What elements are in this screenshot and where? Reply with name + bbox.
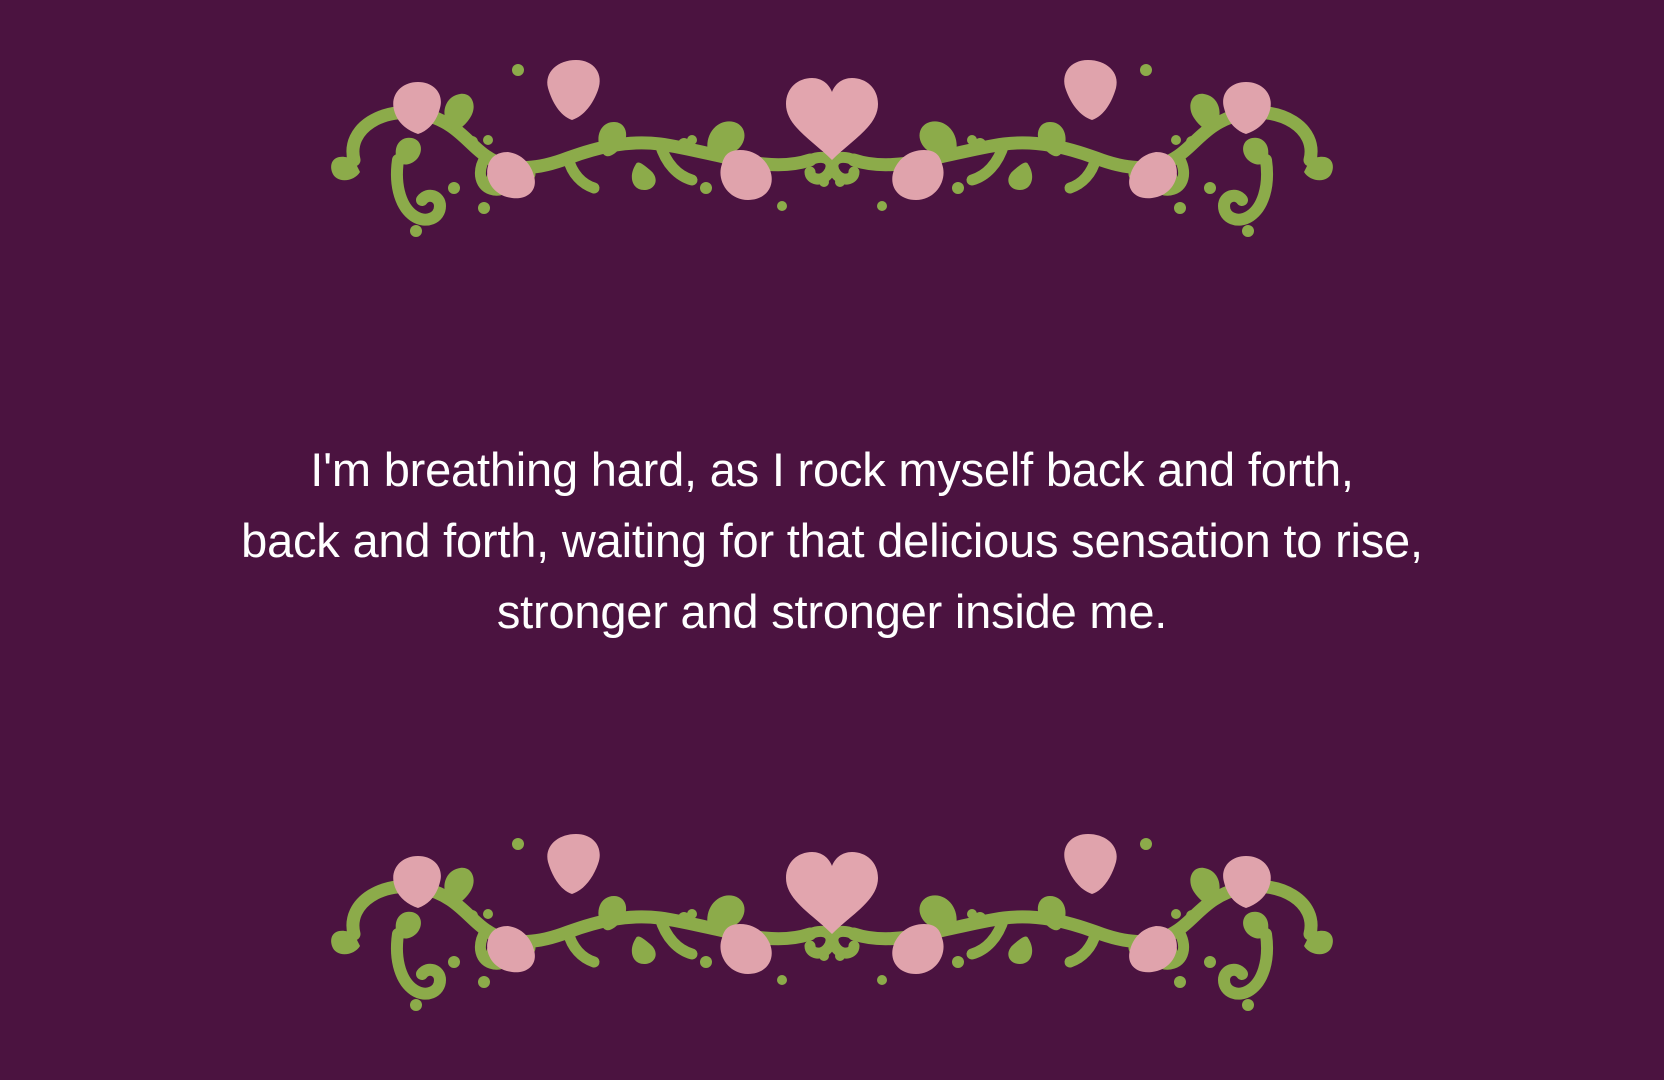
quote-card: I'm breathing hard, as I rock myself bac… <box>0 0 1664 1080</box>
quote-container: I'm breathing hard, as I rock myself bac… <box>0 0 1664 1080</box>
quote-text: I'm breathing hard, as I rock myself bac… <box>32 434 1632 647</box>
